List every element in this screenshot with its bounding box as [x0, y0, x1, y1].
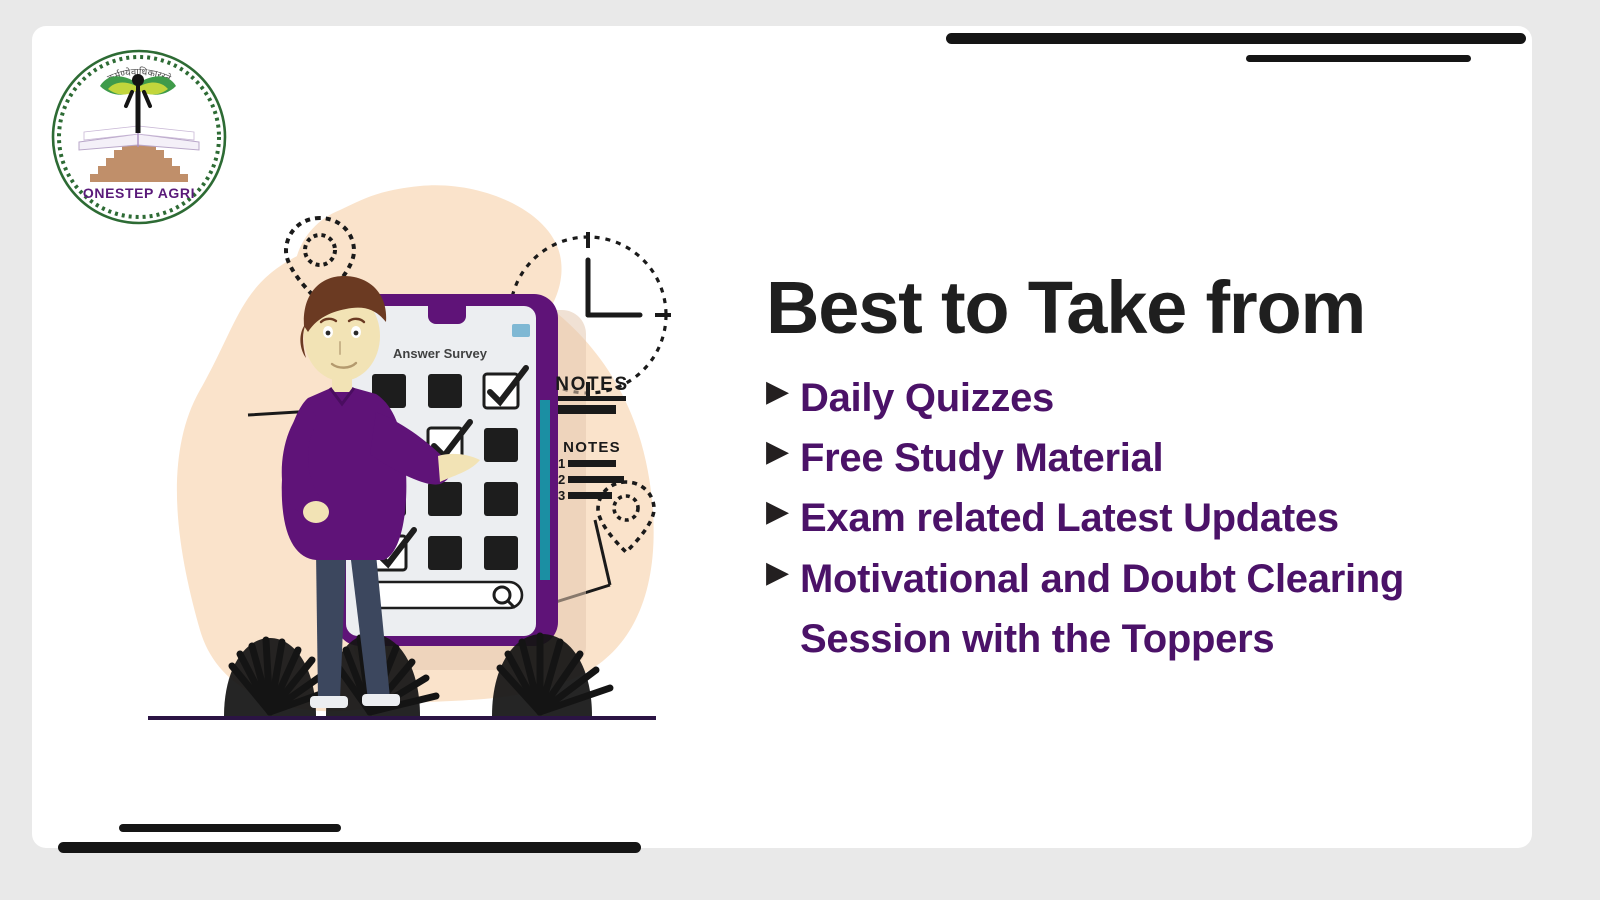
list-item: ▶ Free Study Material	[766, 431, 1536, 486]
list-item: ▶ Daily Quizzes	[766, 371, 1536, 426]
text-column: Best to Take from ▶ Daily Quizzes ▶ Free…	[766, 270, 1536, 667]
triangle-bullet-icon: ▶	[766, 371, 800, 412]
list-number-2: 2	[558, 472, 565, 487]
list-item-label: Exam related Latest Updates	[800, 491, 1339, 546]
list-item-label-continuation: Session with the Toppers	[766, 612, 1536, 667]
decor-bar-bottom-long	[58, 842, 641, 853]
decor-bar-bottom-short	[119, 824, 341, 832]
notes-label-text: NOTES	[555, 374, 628, 395]
list-item: ▶ Motivational and Doubt Clearing Sessio…	[766, 552, 1536, 667]
list-item: ▶ Exam related Latest Updates	[766, 491, 1536, 546]
decor-bar-top-short	[1246, 55, 1471, 62]
list-item-first-line: ▶ Motivational and Doubt Clearing	[766, 552, 1536, 607]
triangle-bullet-icon: ▶	[766, 491, 800, 532]
decor-bar-top-long	[946, 33, 1526, 44]
hero-illustration: Answer Survey	[140, 160, 700, 730]
list-number-1: 1	[558, 456, 565, 471]
slide-root: कर्मण्येवाधिकारस्ते	[0, 0, 1600, 900]
list-item-label: Free Study Material	[800, 431, 1163, 486]
phone-header-text: Answer Survey	[393, 346, 488, 361]
triangle-bullet-icon: ▶	[766, 431, 800, 472]
list-item-label: Motivational and Doubt Clearing	[800, 552, 1404, 607]
page-title: Best to Take from	[766, 270, 1536, 347]
notes-label-2-text: NOTES	[563, 439, 621, 456]
list-item-label: Daily Quizzes	[800, 371, 1054, 426]
feature-list: ▶ Daily Quizzes ▶ Free Study Material ▶ …	[766, 371, 1536, 667]
phone-search-bar	[362, 582, 522, 608]
triangle-bullet-icon: ▶	[766, 552, 800, 593]
list-number-3: 3	[558, 488, 565, 503]
